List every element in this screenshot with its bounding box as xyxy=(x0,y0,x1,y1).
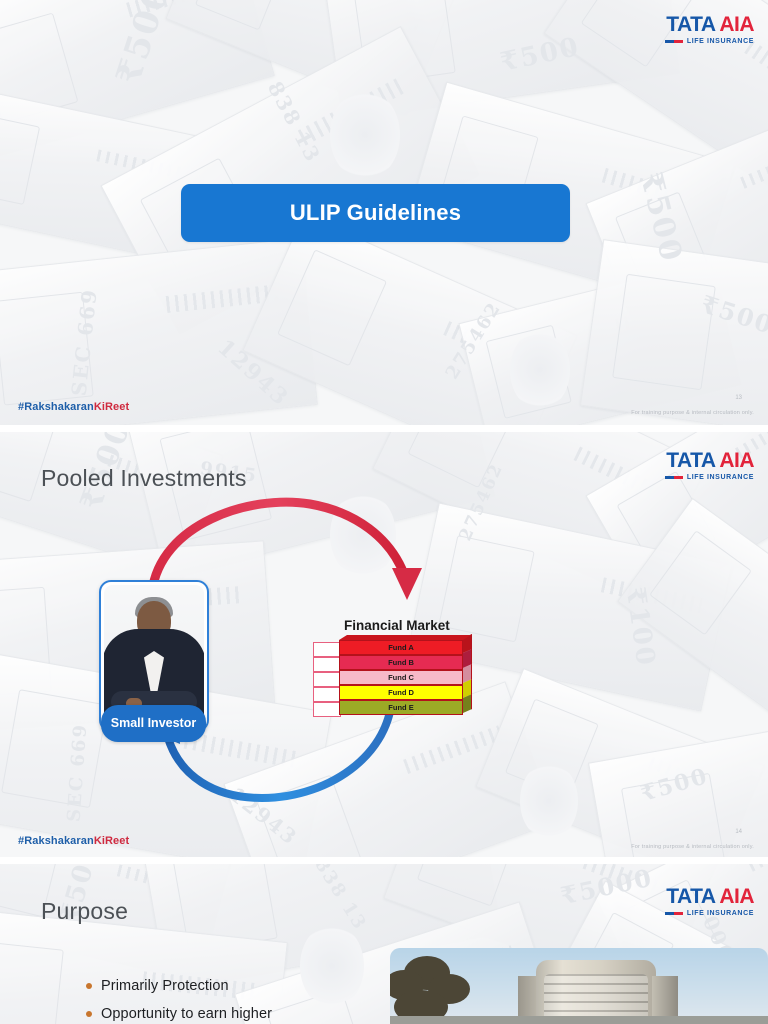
unit-box xyxy=(313,672,341,687)
tata-aia-logo: TATA AIA LIFE INSURANCE xyxy=(665,14,754,45)
pooled-investment-cycle-diagram: ₹ Investment Return depends on the unit … xyxy=(0,432,768,857)
presentation-scroll-view[interactable]: ₹500 838 13 ₹500 ₹500 SEC 669 12943 2754… xyxy=(0,0,768,1024)
fund-label: Fund C xyxy=(388,673,414,682)
fund-label: Fund A xyxy=(388,643,414,652)
unit-box xyxy=(313,687,341,702)
slide-separator xyxy=(0,425,768,432)
fund-row: Fund A xyxy=(339,640,463,655)
logo-dash-icon xyxy=(665,40,683,43)
financial-market-title: Financial Market xyxy=(344,618,450,633)
logo-tata-text: TATA xyxy=(666,13,715,36)
hashtag-rakshakaran-kireet: #RakshakaranKiReet xyxy=(18,835,129,847)
logo-tata-text: TATA xyxy=(666,885,715,908)
logo-aia-text: AIA xyxy=(719,13,754,36)
slide-page-number: 13 xyxy=(735,395,742,401)
fund-label: Fund B xyxy=(388,658,414,667)
logo-aia-text: AIA xyxy=(719,885,754,908)
fund-row: Fund C xyxy=(339,670,463,685)
fund-row: Fund E xyxy=(339,700,463,715)
tata-aia-logo: TATA AIA LIFE INSURANCE xyxy=(665,886,754,917)
fund-row: Fund B xyxy=(339,655,463,670)
investment-arc-path xyxy=(152,502,404,592)
unit-box xyxy=(313,642,341,657)
section-heading: Purpose xyxy=(41,898,128,925)
list-item: Opportunity to earn higher xyxy=(86,1000,272,1024)
hashtag-rakshakaran-kireet: #RakshakaranKiReet xyxy=(18,401,129,413)
fund-label: Fund E xyxy=(388,703,413,712)
small-investor-label: Small Investor xyxy=(101,705,206,742)
logo-subtitle: LIFE INSURANCE xyxy=(687,910,754,917)
investment-arrow-head xyxy=(392,568,422,600)
bse-building-photo xyxy=(390,948,768,1024)
bullet-dot-icon xyxy=(86,983,92,989)
slide-footer-note: For training purpose & internal circulat… xyxy=(631,410,754,416)
unit-allocation-boxes xyxy=(313,642,341,717)
unit-box xyxy=(313,657,341,672)
hashtag-primary: #Rakshakaran xyxy=(18,835,94,847)
list-item: Primarily Protection xyxy=(86,972,272,1000)
hashtag-secondary: KiReet xyxy=(94,835,129,847)
slide-ulip-guidelines: ₹500 838 13 ₹500 ₹500 SEC 669 12943 2754… xyxy=(0,0,768,425)
logo-dash-icon xyxy=(665,912,683,915)
list-item-label: Opportunity to earn higher xyxy=(101,1006,272,1022)
hashtag-primary: #Rakshakaran xyxy=(18,401,94,413)
fund-bar-top xyxy=(339,635,471,640)
bullet-dot-icon xyxy=(86,1011,92,1017)
purpose-bullet-list: Primarily ProtectionOpportunity to earn … xyxy=(86,972,272,1024)
fund-label: Fund D xyxy=(388,688,414,697)
list-item-label: Primarily Protection xyxy=(101,978,229,994)
unit-box xyxy=(313,702,341,717)
slide-separator xyxy=(0,857,768,864)
logo-subtitle: LIFE INSURANCE xyxy=(687,38,754,45)
slide-purpose: ₹500 838 13 ₹5000 0000 TATA AIA LIFE INS… xyxy=(0,864,768,1024)
slide-title-banner: ULIP Guidelines xyxy=(181,184,570,242)
page-title: ULIP Guidelines xyxy=(290,200,461,226)
fund-stack: Fund AFund BFund CFund DFund E xyxy=(339,640,463,715)
slide-page-number: 14 xyxy=(735,829,742,835)
tree-foliage xyxy=(390,954,504,1024)
slide-pooled-investments: ₹500 9915 275462 ₹100 SEC 669 12943 ₹500… xyxy=(0,432,768,857)
hashtag-secondary: KiReet xyxy=(94,401,129,413)
fund-row: Fund D xyxy=(339,685,463,700)
slide-footer-note: For training purpose & internal circulat… xyxy=(631,844,754,850)
